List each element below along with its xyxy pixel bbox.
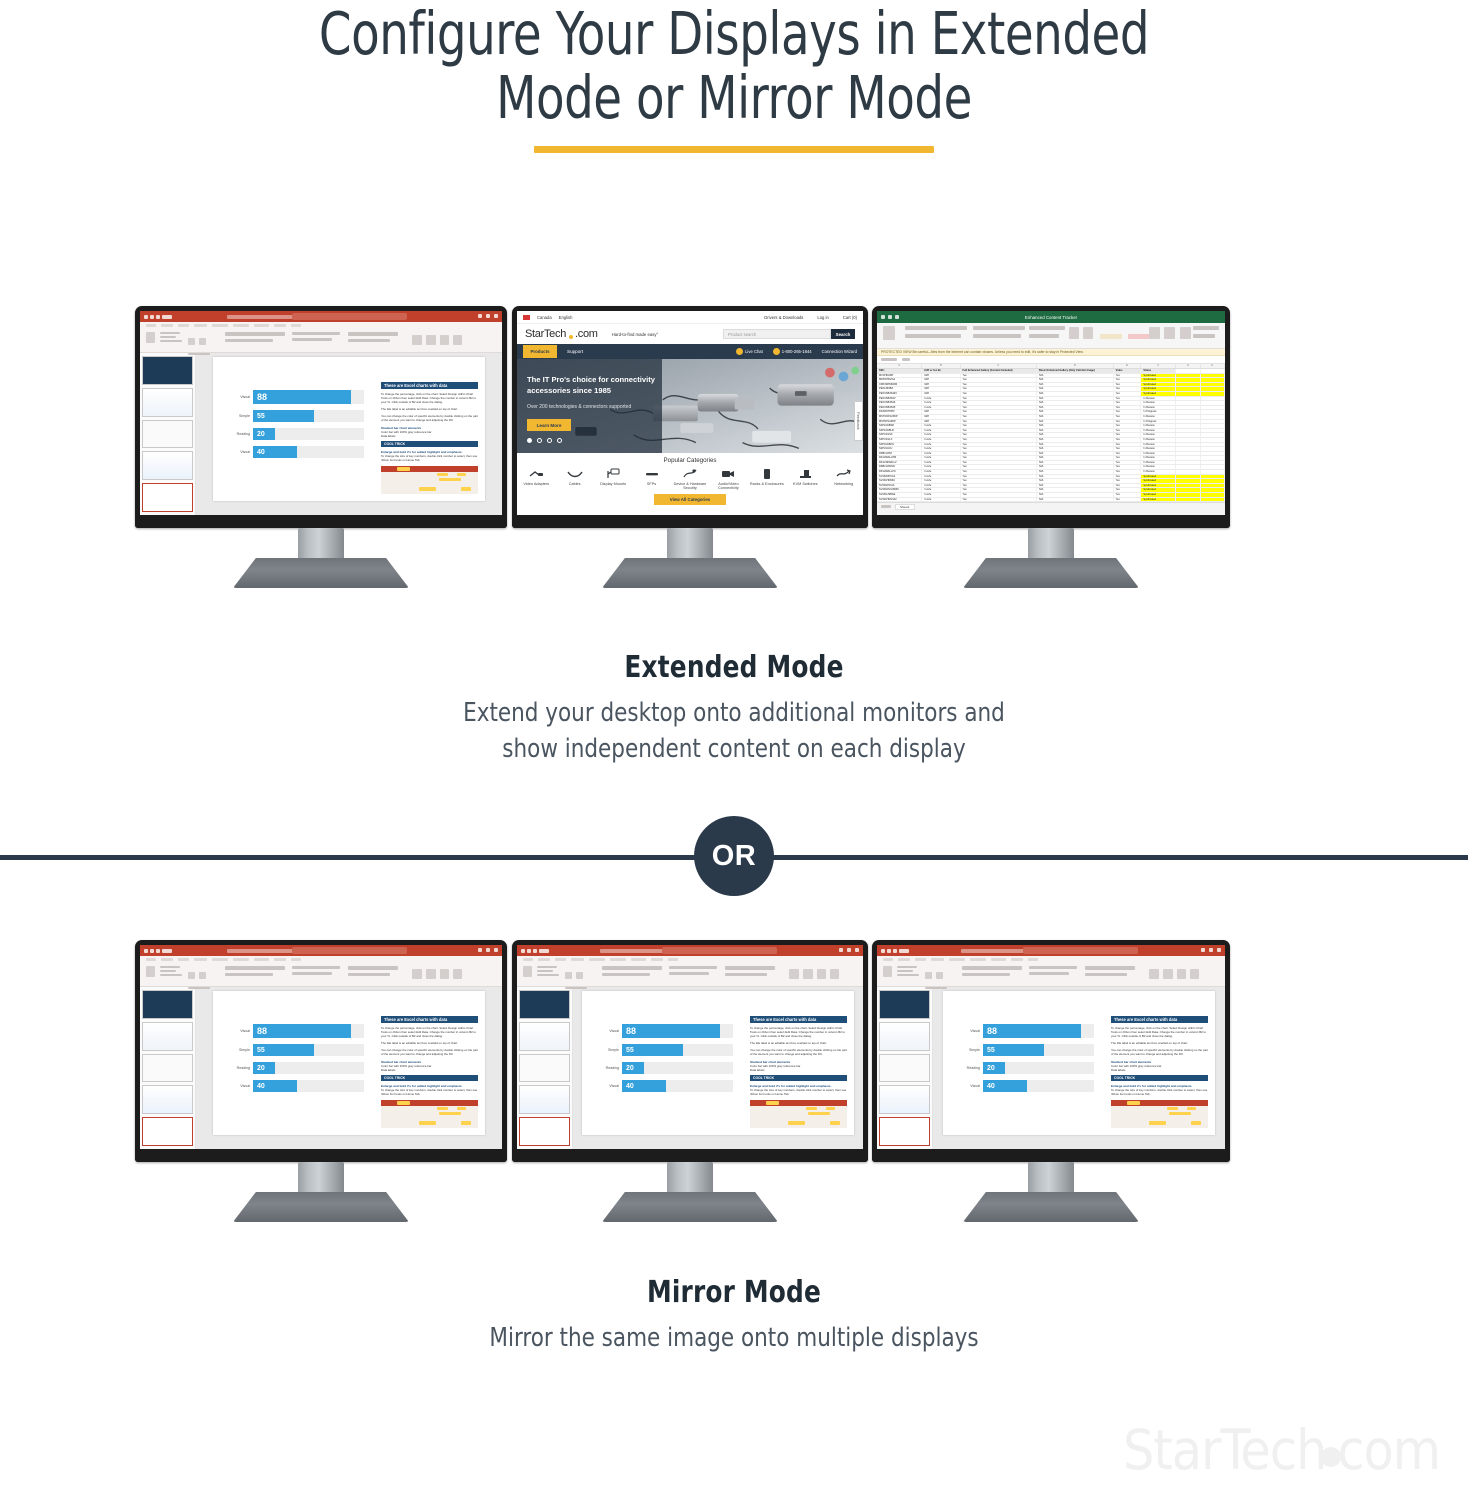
- ppt-window-controls[interactable]: [478, 314, 498, 318]
- table-cell[interactable]: In Review: [1141, 461, 1176, 465]
- table-cell[interactable]: Yes: [961, 475, 1038, 479]
- table-cell[interactable]: [1201, 484, 1225, 488]
- slide-thumbnail-selected[interactable]: [879, 1117, 930, 1146]
- category-item[interactable]: Racks & Enclosures: [748, 468, 786, 486]
- category-item[interactable]: Audio/Video Connectivity: [709, 468, 747, 490]
- table-cell[interactable]: RKBLVWMLD: [877, 465, 922, 469]
- ppt-search-box[interactable]: [292, 947, 407, 954]
- table-cell[interactable]: [1201, 410, 1225, 414]
- table-cell[interactable]: [1176, 484, 1200, 488]
- ppt-ribbon-tabs[interactable]: [140, 322, 502, 329]
- slide-thumbnail[interactable]: [142, 388, 193, 417]
- col-header[interactable]: B: [922, 364, 960, 368]
- ppt-quick-access-toolbar[interactable]: [144, 315, 172, 319]
- table-cell[interactable]: [1176, 374, 1200, 378]
- login-link[interactable]: Log in: [817, 315, 828, 320]
- table-cell[interactable]: IAPI: [922, 383, 960, 387]
- table-cell[interactable]: In-Life: [922, 475, 960, 479]
- table-cell[interactable]: [1176, 397, 1200, 401]
- table-cell[interactable]: IAPI: [922, 387, 960, 391]
- nav-support-link[interactable]: Support: [567, 349, 583, 354]
- table-cell[interactable]: Yes: [1114, 438, 1142, 442]
- table-cell[interactable]: [1201, 498, 1225, 502]
- ppt-tab-design[interactable]: [194, 958, 207, 961]
- table-cell[interactable]: Syndicated: [1141, 374, 1176, 378]
- table-cell[interactable]: [1201, 493, 1225, 497]
- table-cell[interactable]: In-Life: [922, 479, 960, 483]
- table-cell[interactable]: [1176, 488, 1200, 492]
- ppt-undo-icon[interactable]: [150, 949, 154, 953]
- table-cell[interactable]: In Review: [1141, 406, 1176, 410]
- table-cell[interactable]: [1176, 475, 1200, 479]
- ppt-redo-icon[interactable]: [893, 949, 897, 953]
- table-cell[interactable]: N/A: [1037, 392, 1114, 396]
- table-header-cell[interactable]: Basic Enhanced Gallery (Only Call-Out Im…: [1037, 369, 1114, 373]
- view-all-categories-button[interactable]: View All Categories: [654, 494, 726, 505]
- ppt-slide-thumbnail-panel[interactable]: [877, 987, 933, 1149]
- category-item[interactable]: Video Adapters: [517, 468, 555, 486]
- ppt-tab-transitions[interactable]: [949, 958, 965, 961]
- slide-thumbnail[interactable]: [142, 356, 193, 385]
- table-cell[interactable]: Yes: [1114, 374, 1142, 378]
- col-header[interactable]: A: [877, 364, 922, 368]
- table-cell[interactable]: N/A: [1037, 470, 1114, 474]
- search-input[interactable]: Product search: [723, 329, 831, 339]
- table-cell[interactable]: N/A: [1037, 498, 1114, 502]
- slide-thumbnail[interactable]: [142, 1054, 193, 1083]
- table-cell[interactable]: N/A: [1037, 488, 1114, 492]
- table-cell[interactable]: [1201, 429, 1225, 433]
- ppt-quick-access-toolbar[interactable]: [521, 949, 549, 953]
- ppt-autosave-toggle[interactable]: [539, 949, 549, 953]
- table-cell[interactable]: Yes: [1114, 461, 1142, 465]
- table-cell[interactable]: PEXUSB3S25: [877, 406, 922, 410]
- table-cell[interactable]: IAPI: [922, 410, 960, 414]
- table-cell[interactable]: [1201, 447, 1225, 451]
- ppt-ribbon-group-editing[interactable]: [412, 332, 436, 350]
- table-cell[interactable]: N/A: [1037, 475, 1114, 479]
- table-cell[interactable]: SFPC1GLX: [877, 438, 922, 442]
- table-cell[interactable]: N/A: [1037, 493, 1114, 497]
- table-cell[interactable]: Yes: [961, 401, 1038, 405]
- ppt-tab-insert[interactable]: [555, 958, 566, 961]
- ppt-ribbon-group-drawing[interactable]: [348, 332, 398, 342]
- table-cell[interactable]: [1176, 438, 1200, 442]
- table-cell[interactable]: N/A: [1037, 424, 1114, 428]
- table-cell[interactable]: Syndicated: [1141, 484, 1176, 488]
- table-cell[interactable]: IAPI: [922, 378, 960, 382]
- ppt-maximize-icon[interactable]: [486, 314, 490, 318]
- hero-carousel-dots[interactable]: [527, 438, 562, 443]
- ppt-ribbon-group-slides[interactable]: [537, 966, 559, 976]
- ppt-tab-design[interactable]: [571, 958, 584, 961]
- ppt-tab-review[interactable]: [274, 324, 286, 327]
- ppt-search-box[interactable]: [1023, 947, 1138, 954]
- ppt-tab-view[interactable]: [668, 958, 678, 961]
- table-cell[interactable]: Yes: [1114, 433, 1142, 437]
- table-cell[interactable]: Yes: [1114, 456, 1142, 460]
- table-cell[interactable]: Yes: [1114, 443, 1142, 447]
- table-cell[interactable]: N/A: [1037, 465, 1114, 469]
- category-item[interactable]: Display Mounts: [594, 468, 632, 486]
- table-cell[interactable]: MSTCDP123DP: [877, 415, 922, 419]
- ppt-minimize-icon[interactable]: [478, 948, 482, 952]
- excel-ribbon-group-styles[interactable]: [1069, 326, 1150, 344]
- table-cell[interactable]: Yes: [1114, 424, 1142, 428]
- table-cell[interactable]: Yes: [1114, 406, 1142, 410]
- table-cell[interactable]: PEXUSB3S24: [877, 401, 922, 405]
- table-cell[interactable]: [1176, 415, 1200, 419]
- ppt-quick-access-toolbar[interactable]: [144, 949, 172, 953]
- ppt-redo-icon[interactable]: [156, 949, 160, 953]
- table-cell[interactable]: In-Life: [922, 488, 960, 492]
- categories-row[interactable]: Video Adapters Cables Display Mounts: [517, 468, 863, 490]
- slide-thumbnail[interactable]: [879, 1085, 930, 1114]
- table-cell[interactable]: In-Life: [922, 470, 960, 474]
- table-cell[interactable]: [1201, 475, 1225, 479]
- ppt-search-box[interactable]: [662, 947, 777, 954]
- table-cell[interactable]: Yes: [961, 415, 1038, 419]
- table-cell[interactable]: [1201, 406, 1225, 410]
- table-cell[interactable]: Yes: [961, 452, 1038, 456]
- table-cell[interactable]: N/A: [1037, 378, 1114, 382]
- table-cell[interactable]: Yes: [1114, 498, 1142, 502]
- table-cell[interactable]: [1201, 438, 1225, 442]
- table-cell[interactable]: Yes: [961, 456, 1038, 460]
- ppt-undo-icon[interactable]: [527, 949, 531, 953]
- table-cell[interactable]: In Progress: [1141, 410, 1176, 414]
- table-cell[interactable]: [1201, 420, 1225, 424]
- ppt-tab-design[interactable]: [194, 324, 207, 327]
- ppt-tab-home[interactable]: [898, 958, 910, 961]
- table-cell[interactable]: [1176, 429, 1200, 433]
- table-cell[interactable]: Yes: [1114, 465, 1142, 469]
- table-cell[interactable]: SFP10GBLR: [877, 429, 922, 433]
- table-cell[interactable]: [1176, 401, 1200, 405]
- excel-ribbon-group-alignment[interactable]: [973, 326, 1025, 338]
- table-cell[interactable]: [1201, 387, 1225, 391]
- table-cell[interactable]: In Progress: [1141, 420, 1176, 424]
- ppt-search-box[interactable]: [292, 313, 407, 320]
- table-cell[interactable]: IAPI: [922, 420, 960, 424]
- table-cell[interactable]: DK30CHHPD: [877, 410, 922, 414]
- table-cell[interactable]: Yes: [961, 438, 1038, 442]
- table-cell[interactable]: In-Life: [922, 429, 960, 433]
- ppt-ribbon-group-designer[interactable]: [1177, 966, 1199, 984]
- ppt-tab-animations[interactable]: [233, 324, 249, 327]
- table-cell[interactable]: SFP10GBCU: [877, 443, 922, 447]
- table-cell[interactable]: Yes: [961, 429, 1038, 433]
- col-header[interactable]: H: [1201, 364, 1225, 368]
- table-cell[interactable]: Syndicated: [1141, 387, 1176, 391]
- ppt-tab-review[interactable]: [274, 958, 286, 961]
- ppt-tab-transitions[interactable]: [212, 958, 228, 961]
- table-cell[interactable]: [1201, 383, 1225, 387]
- table-cell[interactable]: In-Life: [922, 456, 960, 460]
- ppt-tab-review[interactable]: [1011, 958, 1023, 961]
- ppt-tab-insert[interactable]: [178, 958, 189, 961]
- table-cell[interactable]: In-Life: [922, 424, 960, 428]
- table-cell[interactable]: In Review: [1141, 433, 1176, 437]
- table-header-cell[interactable]: Full Enhanced Gallery (Content Included): [961, 369, 1038, 373]
- col-header[interactable]: D: [1037, 364, 1114, 368]
- ppt-ribbon-group-layout[interactable]: [925, 966, 947, 989]
- table-cell[interactable]: PEXUSB3S4V: [877, 397, 922, 401]
- ppt-tab-view[interactable]: [291, 324, 301, 327]
- table-cell[interactable]: [1176, 493, 1200, 497]
- table-cell[interactable]: N/A: [1037, 438, 1114, 442]
- table-cell[interactable]: [1201, 374, 1225, 378]
- slide-thumbnail[interactable]: [142, 451, 193, 480]
- table-cell[interactable]: Yes: [1114, 410, 1142, 414]
- table-cell[interactable]: Yes: [961, 406, 1038, 410]
- table-header-cell[interactable]: IAPI or In-Life: [922, 369, 960, 373]
- table-cell[interactable]: Yes: [961, 383, 1038, 387]
- table-cell[interactable]: IAPI: [922, 392, 960, 396]
- table-cell[interactable]: Yes: [1114, 452, 1142, 456]
- slide-thumbnail[interactable]: [879, 990, 930, 1019]
- ppt-window-controls[interactable]: [478, 948, 498, 952]
- ppt-ribbon-group-drawing[interactable]: [348, 966, 398, 976]
- table-cell[interactable]: In-Life: [922, 461, 960, 465]
- table-cell[interactable]: [1176, 498, 1200, 502]
- ppt-ribbon[interactable]: [877, 963, 1225, 987]
- table-cell[interactable]: RK12WALLVO: [877, 470, 922, 474]
- table-cell[interactable]: In-Life: [922, 406, 960, 410]
- ppt-ribbon-group-font[interactable]: [225, 332, 285, 342]
- table-cell[interactable]: Yes: [961, 461, 1038, 465]
- table-cell[interactable]: PEX1394B3: [877, 387, 922, 391]
- excel-protected-view-bar[interactable]: PROTECTED VIEW Be careful—files from the…: [877, 349, 1225, 356]
- table-cell[interactable]: Syndicated: [1141, 479, 1176, 483]
- search-button[interactable]: Search: [831, 329, 855, 339]
- table-cell[interactable]: [1201, 456, 1225, 460]
- table-cell[interactable]: [1176, 410, 1200, 414]
- table-cell[interactable]: Yes: [1114, 401, 1142, 405]
- table-cell[interactable]: Yes: [961, 378, 1038, 382]
- category-item[interactable]: Device & Hardware Security: [671, 468, 709, 490]
- ppt-ribbon-group-layout[interactable]: [188, 332, 210, 355]
- table-cell[interactable]: Yes: [961, 424, 1038, 428]
- table-cell[interactable]: N/A: [1037, 479, 1114, 483]
- slide-thumbnail[interactable]: [879, 1054, 930, 1083]
- table-cell[interactable]: MXCHD2DP: [877, 374, 922, 378]
- carousel-dot-active[interactable]: [527, 438, 532, 443]
- ppt-redo-icon[interactable]: [533, 949, 537, 953]
- ppt-minimize-icon[interactable]: [478, 314, 482, 318]
- ppt-ribbon-group-editing[interactable]: [412, 966, 436, 984]
- table-cell[interactable]: [1176, 461, 1200, 465]
- table-cell[interactable]: [1176, 465, 1200, 469]
- table-header-cell[interactable]: SKU: [877, 369, 922, 373]
- ppt-ribbon-group-paragraph[interactable]: [292, 966, 340, 975]
- table-cell[interactable]: Yes: [1114, 415, 1142, 419]
- table-cell[interactable]: In Review: [1141, 470, 1176, 474]
- table-cell[interactable]: N/A: [1037, 383, 1114, 387]
- slide-thumbnail[interactable]: [519, 1054, 570, 1083]
- slide-thumbnail[interactable]: [519, 990, 570, 1019]
- table-cell[interactable]: [1176, 479, 1200, 483]
- ppt-tab-insert[interactable]: [178, 324, 189, 327]
- ppt-tab-transitions[interactable]: [589, 958, 605, 961]
- table-cell[interactable]: Yes: [1114, 383, 1142, 387]
- table-cell[interactable]: Yes: [1114, 484, 1142, 488]
- ppt-ribbon-group-designer[interactable]: [817, 966, 839, 984]
- table-cell[interactable]: MSTDP123DP: [877, 420, 922, 424]
- table-cell[interactable]: Yes: [1114, 493, 1142, 497]
- table-cell[interactable]: [1201, 369, 1225, 373]
- website-utility-bar[interactable]: Canada English Drivers & Downloads Log i…: [517, 311, 863, 324]
- excel-quick-access-toolbar[interactable]: [881, 315, 899, 319]
- ppt-minimize-icon[interactable]: [1201, 948, 1205, 952]
- table-cell[interactable]: In-Life: [922, 484, 960, 488]
- table-cell[interactable]: [1201, 461, 1225, 465]
- ppt-tab-home[interactable]: [161, 958, 173, 961]
- ppt-minimize-icon[interactable]: [839, 948, 843, 952]
- table-cell[interactable]: Yes: [961, 498, 1038, 502]
- nav-products-button[interactable]: Products: [523, 345, 557, 358]
- ppt-tab-home[interactable]: [161, 324, 173, 327]
- table-cell[interactable]: [1176, 470, 1200, 474]
- table-cell[interactable]: N/A: [1037, 484, 1114, 488]
- ppt-ribbon-group-clipboard[interactable]: [146, 332, 155, 343]
- table-cell[interactable]: N/A: [1037, 452, 1114, 456]
- slide-thumbnail-selected[interactable]: [142, 483, 193, 512]
- table-cell[interactable]: N/A: [1037, 447, 1114, 451]
- ppt-close-icon[interactable]: [494, 948, 498, 952]
- ppt-tab-slideshow[interactable]: [631, 958, 646, 961]
- ppt-undo-icon[interactable]: [150, 315, 154, 319]
- table-cell[interactable]: Yes: [961, 484, 1038, 488]
- ppt-autosave-toggle[interactable]: [162, 949, 172, 953]
- ppt-tab-file[interactable]: [146, 324, 156, 327]
- ppt-ribbon-group-paragraph[interactable]: [1029, 966, 1077, 975]
- brand-logo[interactable]: StarTech: [525, 328, 566, 340]
- website-main-nav[interactable]: Products Support Live Chat 1-800-265-184…: [517, 344, 863, 359]
- ppt-quick-access-toolbar[interactable]: [881, 949, 909, 953]
- table-cell[interactable]: In Review: [1141, 443, 1176, 447]
- table-cell[interactable]: [1201, 479, 1225, 483]
- ppt-tab-animations[interactable]: [233, 958, 249, 961]
- nav-connection-wizard-link[interactable]: Connection Wizard: [822, 349, 857, 354]
- ppt-close-icon[interactable]: [1217, 948, 1221, 952]
- table-cell[interactable]: N/A: [1037, 406, 1114, 410]
- excel-ribbon[interactable]: [877, 323, 1225, 349]
- table-cell[interactable]: [1176, 383, 1200, 387]
- table-cell[interactable]: RKBLVWM: [877, 452, 922, 456]
- table-cell[interactable]: Yes: [961, 392, 1038, 396]
- table-cell[interactable]: N/A: [1037, 461, 1114, 465]
- table-cell[interactable]: In-Life: [922, 438, 960, 442]
- table-cell[interactable]: SV431DPUA2: [877, 475, 922, 479]
- table-cell[interactable]: SFPC1GSX: [877, 433, 922, 437]
- excel-sheet-tabs[interactable]: Sheet1: [877, 502, 1225, 510]
- table-cell[interactable]: [1176, 387, 1200, 391]
- utility-left[interactable]: Canada English: [523, 315, 572, 320]
- table-cell[interactable]: Yes: [961, 443, 1038, 447]
- carousel-dot[interactable]: [537, 438, 542, 443]
- ppt-ribbon-group-designer[interactable]: [440, 966, 462, 984]
- table-cell[interactable]: [1176, 433, 1200, 437]
- ppt-ribbon-group-clipboard[interactable]: [146, 966, 155, 977]
- table-cell[interactable]: RK1219WALLV: [877, 461, 922, 465]
- website-search[interactable]: Product search Search: [723, 329, 855, 339]
- slide-thumbnail[interactable]: [519, 1022, 570, 1051]
- table-cell[interactable]: Yes: [1114, 479, 1142, 483]
- utility-right[interactable]: Drivers & Downloads Log in Cart (0): [764, 315, 857, 320]
- table-cell[interactable]: Yes: [1114, 392, 1142, 396]
- table-cell[interactable]: [1176, 447, 1200, 451]
- excel-ribbon-group-clipboard[interactable]: [883, 326, 895, 340]
- table-cell[interactable]: Syndicated: [1141, 493, 1176, 497]
- table-cell[interactable]: [1176, 456, 1200, 460]
- category-item[interactable]: KVM Switches: [786, 468, 824, 486]
- ppt-maximize-icon[interactable]: [1209, 948, 1213, 952]
- col-header[interactable]: F: [1141, 364, 1176, 368]
- table-cell[interactable]: Yes: [1114, 397, 1142, 401]
- table-cell[interactable]: [1176, 378, 1200, 382]
- table-cell[interactable]: In-Life: [922, 433, 960, 437]
- table-cell[interactable]: Yes: [1114, 470, 1142, 474]
- table-cell[interactable]: N/A: [1037, 401, 1114, 405]
- ppt-ribbon-group-editing[interactable]: [789, 966, 813, 984]
- col-header[interactable]: E: [1114, 364, 1142, 368]
- ppt-maximize-icon[interactable]: [847, 948, 851, 952]
- table-cell[interactable]: Yes: [961, 397, 1038, 401]
- table-cell[interactable]: Yes: [961, 420, 1038, 424]
- table-cell[interactable]: Yes: [961, 488, 1038, 492]
- ppt-ribbon-group-slides[interactable]: [160, 966, 182, 976]
- ppt-ribbon-tabs[interactable]: [517, 956, 863, 963]
- table-cell[interactable]: In-Life: [922, 452, 960, 456]
- table-cell[interactable]: N/A: [1037, 456, 1114, 460]
- table-cell[interactable]: N/A: [1037, 387, 1114, 391]
- ppt-ribbon-group-clipboard[interactable]: [523, 966, 532, 977]
- excel-data-rows[interactable]: SKUIAPI or In-LifeFull Enhanced Gallery …: [877, 369, 1225, 502]
- excel-undo-icon[interactable]: [888, 315, 892, 319]
- table-cell[interactable]: SV431HDU3A2: [877, 498, 922, 502]
- ppt-tab-file[interactable]: [523, 958, 533, 961]
- cart-link[interactable]: Cart (0): [843, 315, 857, 320]
- ppt-ribbon-group-drawing[interactable]: [725, 966, 775, 976]
- table-cell[interactable]: Yes: [961, 387, 1038, 391]
- table-cell[interactable]: Syndicated: [1141, 488, 1176, 492]
- ppt-tab-insert[interactable]: [915, 958, 926, 961]
- table-cell[interactable]: In-Life: [922, 493, 960, 497]
- ppt-close-icon[interactable]: [494, 314, 498, 318]
- table-cell[interactable]: Syndicated: [1141, 392, 1176, 396]
- table-cell[interactable]: [1201, 452, 1225, 456]
- table-cell[interactable]: SV431DVIUDDM: [877, 488, 922, 492]
- ppt-tab-view[interactable]: [291, 958, 301, 961]
- ppt-autosave-toggle[interactable]: [899, 949, 909, 953]
- category-item[interactable]: Cables: [556, 468, 594, 486]
- ppt-tab-animations[interactable]: [970, 958, 986, 961]
- ppt-ribbon[interactable]: [517, 963, 863, 987]
- ppt-save-icon[interactable]: [144, 949, 148, 953]
- ppt-window-controls[interactable]: [839, 948, 859, 952]
- table-cell[interactable]: N/A: [1037, 397, 1114, 401]
- table-cell[interactable]: In Review: [1141, 438, 1176, 442]
- table-cell[interactable]: Yes: [1114, 378, 1142, 382]
- table-cell[interactable]: SV431DVIUA: [877, 484, 922, 488]
- table-cell[interactable]: PEXUSB3S44V: [877, 392, 922, 396]
- ppt-tab-slideshow[interactable]: [254, 324, 269, 327]
- table-cell[interactable]: Yes: [1114, 488, 1142, 492]
- drivers-downloads-link[interactable]: Drivers & Downloads: [764, 315, 803, 320]
- ppt-close-icon[interactable]: [855, 948, 859, 952]
- table-cell[interactable]: N/A: [1037, 443, 1114, 447]
